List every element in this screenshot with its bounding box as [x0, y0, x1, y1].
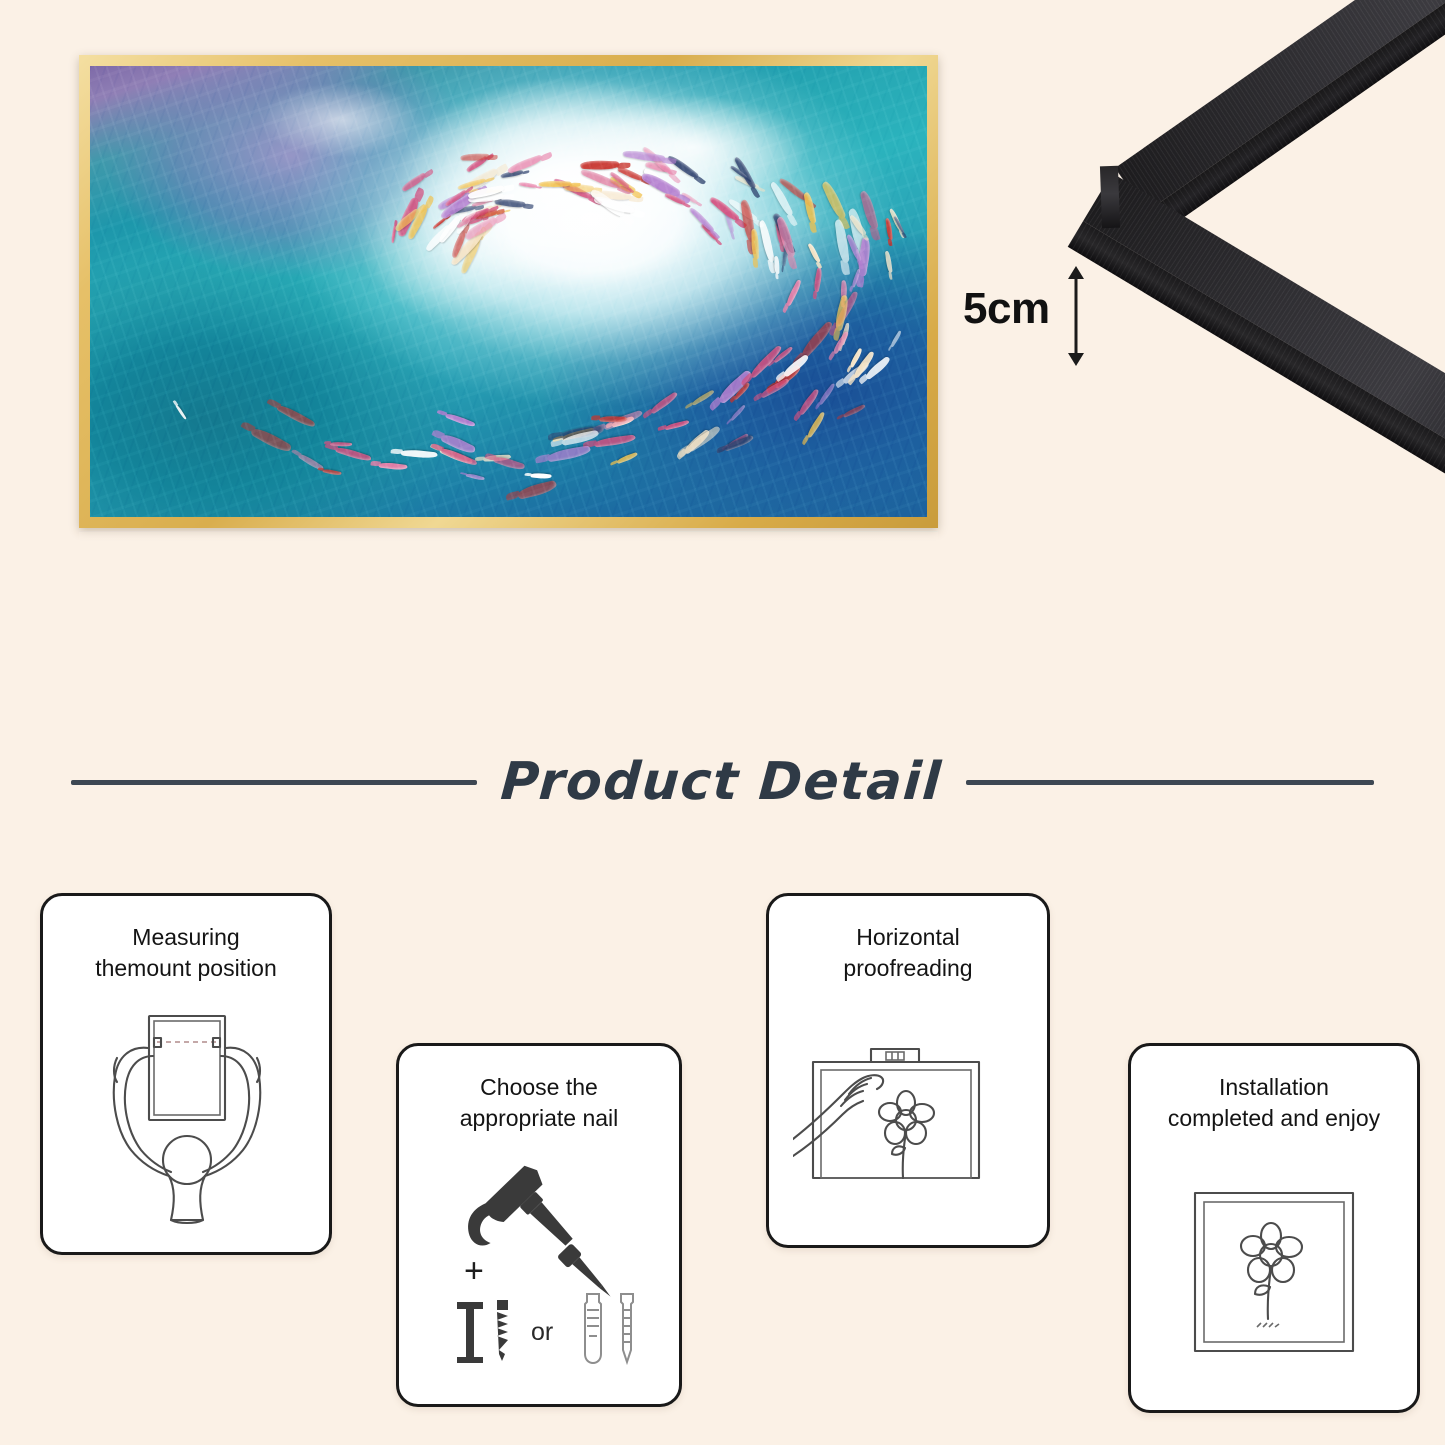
instruction-card-horizontal-proofreading[interactable]: Horizontal proofreading [766, 893, 1050, 1248]
title-rule-left [71, 780, 477, 785]
instruction-card-installation-complete[interactable]: Installation completed and enjoy [1128, 1043, 1420, 1413]
title-rule-right [966, 780, 1374, 785]
instruction-card-measuring[interactable]: Measuring themount position [40, 893, 332, 1255]
nail-icon [457, 1302, 483, 1363]
or-label: or [531, 1318, 553, 1346]
painting-canvas [90, 66, 927, 517]
product-detail-page: 5cm Product Detail Measuring themount po… [0, 0, 1445, 1445]
spirit-level-icon [871, 1049, 919, 1062]
framed-ocean-fish-painting[interactable] [79, 55, 938, 528]
painting-impasto-texture [90, 66, 927, 517]
wall-anchor-icon [585, 1294, 601, 1363]
section-title-row: Product Detail [0, 742, 1445, 822]
screw-icon [497, 1300, 508, 1361]
person-holding-frame-icon [43, 984, 329, 1252]
flower-icon [1241, 1223, 1302, 1327]
card-title-choose-nail: Choose the appropriate nail [444, 1046, 635, 1134]
card-title-proofreading: Horizontal proofreading [827, 896, 988, 984]
frame-bar-upper [1115, 0, 1445, 212]
instruction-card-choose-nail[interactable]: Choose the appropriate nail [396, 1043, 682, 1407]
framed-flower-picture-icon [1131, 1134, 1417, 1410]
dimension-label: 5cm [963, 284, 1050, 334]
double-arrow-icon [1065, 266, 1087, 366]
frame-depth-dimension: 5cm [963, 262, 1103, 372]
hand-with-spirit-level-icon [769, 984, 1047, 1245]
hand-icon [793, 1076, 883, 1157]
card-title-measuring: Measuring themount position [79, 896, 293, 984]
frame-mitre-end-cap [1100, 166, 1120, 229]
gray-screw-icon [621, 1294, 633, 1362]
flower-icon [879, 1091, 934, 1178]
plus-sign: + [464, 1252, 484, 1290]
page-title: Product Detail [499, 752, 944, 812]
hammer-and-nails-icon: + or [399, 1134, 679, 1404]
black-wood-frame-corner[interactable] [1055, 0, 1445, 580]
card-title-installation: Installation completed and enjoy [1152, 1046, 1396, 1134]
